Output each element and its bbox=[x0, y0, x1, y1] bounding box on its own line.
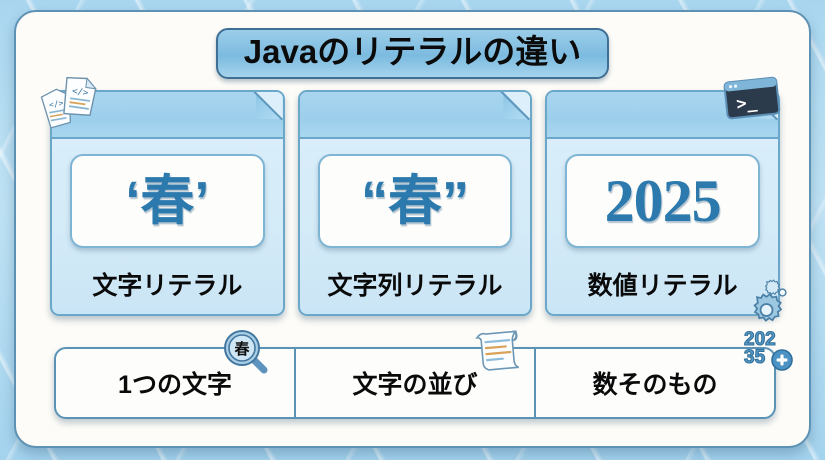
summary-text-string: 文字の並び bbox=[352, 365, 477, 401]
literal-card-row: ‘春’ 文字リテラル “春” 文字列リテラル bbox=[50, 90, 780, 316]
summary-text-char: 1つの文字 bbox=[118, 365, 232, 401]
scroll-document-icon bbox=[472, 326, 524, 372]
numbers-bottom-text: 35 bbox=[744, 347, 766, 368]
code-files-icon: </> </> bbox=[38, 76, 100, 132]
card-label-string: 文字列リテラル bbox=[300, 266, 531, 302]
summary-cell-number: 数そのもの bbox=[534, 349, 774, 417]
value-box-string: “春” bbox=[318, 154, 513, 248]
page-title: Javaのリテラルの違い bbox=[244, 34, 581, 70]
summary-text-number: 数そのもの bbox=[592, 365, 717, 401]
card-value-char: ‘春’ bbox=[125, 174, 209, 228]
value-box-number: 2025 bbox=[565, 154, 760, 248]
page-fold-corner-icon bbox=[503, 92, 530, 119]
main-panel: Javaのリテラルの違い ‘春’ 文字リテラル bbox=[14, 10, 811, 448]
magnifier-glyph: 春 bbox=[234, 340, 249, 358]
gears-icon bbox=[744, 277, 800, 329]
card-string-literal: “春” 文字列リテラル bbox=[298, 90, 533, 316]
terminal-icon: >_ bbox=[722, 76, 782, 122]
infographic-canvas: Javaのリテラルの違い ‘春’ 文字リテラル bbox=[0, 0, 825, 460]
summary-bar: 1つの文字 文字の並び 数そのもの bbox=[54, 347, 776, 419]
title-chip: Javaのリテラルの違い bbox=[216, 28, 609, 79]
card-value-number: 2025 bbox=[605, 171, 721, 231]
card-label-char: 文字リテラル bbox=[52, 266, 283, 302]
card-header-band bbox=[300, 92, 531, 139]
page-fold-corner-icon bbox=[256, 92, 283, 119]
title-area: Javaのリテラルの違い bbox=[16, 28, 809, 79]
card-value-string: “春” bbox=[361, 174, 469, 228]
svg-text:>_: >_ bbox=[735, 92, 758, 114]
numbers-plus-icon: 202 35 bbox=[740, 323, 796, 379]
magnifier-icon: 春 bbox=[221, 327, 269, 375]
value-box-char: ‘春’ bbox=[70, 154, 265, 248]
